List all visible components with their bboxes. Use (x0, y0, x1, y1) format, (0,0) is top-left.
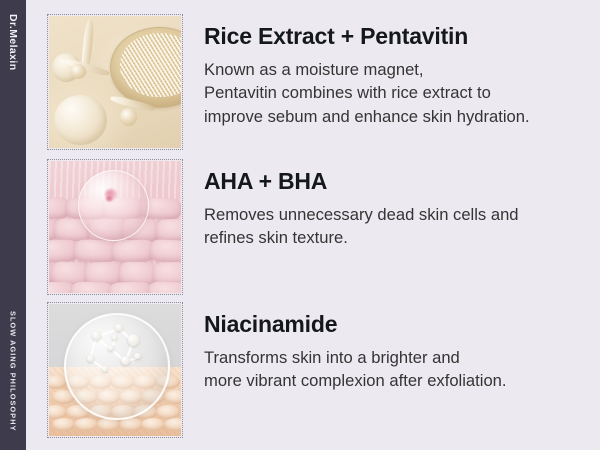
skin-cell-shape (70, 282, 114, 293)
molecule-node-dot (102, 366, 108, 372)
rice-grains-texture (120, 33, 181, 96)
product-ingredient-infographic: Dr.Melaxin SLOW AGING PHILOSOPHY (0, 0, 600, 450)
skin-cells-illustration (49, 161, 181, 293)
skin-cross-section-dome-image (47, 302, 183, 438)
skin-cross-section-illustration (49, 304, 181, 436)
skin-cell-oval-shape (164, 390, 181, 404)
skin-cell-shape (150, 239, 181, 262)
ingredient-description: Known as a moisture magnet, Pentavitin c… (204, 58, 600, 128)
molecule-node-dot (128, 334, 139, 345)
brand-name-label: Dr.Melaxin (7, 14, 19, 71)
skin-cell-shape (147, 282, 181, 293)
content-area: Rice Extract + Pentavitin Known as a moi… (26, 0, 600, 450)
brand-tagline: SLOW AGING PHILOSOPHY (0, 311, 26, 432)
skin-cell-oval-shape (52, 418, 76, 431)
molecule-node-dot (112, 335, 117, 340)
ingredient-heading: AHA + BHA (204, 169, 600, 193)
ingredient-section-rice-extract: Rice Extract + Pentavitin Known as a moi… (26, 14, 600, 150)
skin-cell-shape (112, 239, 156, 262)
ingredient-description: Removes unnecessary dead skin cells and … (204, 203, 600, 249)
skin-cell-shape (73, 239, 117, 262)
exfoliating-bubble-shape (78, 170, 149, 241)
brand-rail: Dr.Melaxin SLOW AGING PHILOSOPHY (0, 0, 26, 450)
skin-cell-shape (109, 282, 153, 293)
ingredient-description: Transforms skin into a brighter and more… (204, 346, 600, 392)
serum-dome-shape (64, 313, 171, 420)
ingredient-heading: Rice Extract + Pentavitin (204, 24, 600, 48)
ingredient-text-block: AHA + BHA Removes unnecessary dead skin … (204, 159, 600, 250)
rice-extract-droplets-image (47, 14, 183, 150)
skin-cell-oval-shape (164, 418, 181, 431)
brand-tagline-label: SLOW AGING PHILOSOPHY (9, 311, 18, 432)
ingredient-section-aha-bha: AHA + BHA Removes unnecessary dead skin … (26, 159, 600, 295)
skin-cell-oval-shape (74, 418, 98, 431)
ingredient-text-block: Rice Extract + Pentavitin Known as a moi… (204, 14, 600, 128)
molecule-node-dot (87, 355, 94, 362)
molecule-node-dot (134, 353, 140, 359)
skin-cell-shape (156, 218, 181, 241)
molecule-node-dot (115, 324, 122, 331)
bubble-core-highlight (106, 196, 113, 202)
ingredient-section-niacinamide: Niacinamide Transforms skin into a brigh… (26, 302, 600, 438)
skin-cells-bubble-image (47, 159, 183, 295)
skin-cell-oval-shape (49, 405, 67, 419)
brand-logo: Dr.Melaxin (0, 14, 26, 71)
rice-extract-illustration (49, 16, 181, 148)
ingredient-text-block: Niacinamide Transforms skin into a brigh… (204, 302, 600, 393)
droplet-knob-shape (120, 108, 137, 125)
molecule-node-dot (121, 356, 130, 365)
skin-cell-oval-shape (119, 418, 143, 431)
droplet-large-icon (54, 95, 107, 145)
skin-cell-oval-shape (141, 418, 165, 431)
droplet-knob-shape (70, 64, 86, 80)
ingredient-heading: Niacinamide (204, 312, 600, 336)
